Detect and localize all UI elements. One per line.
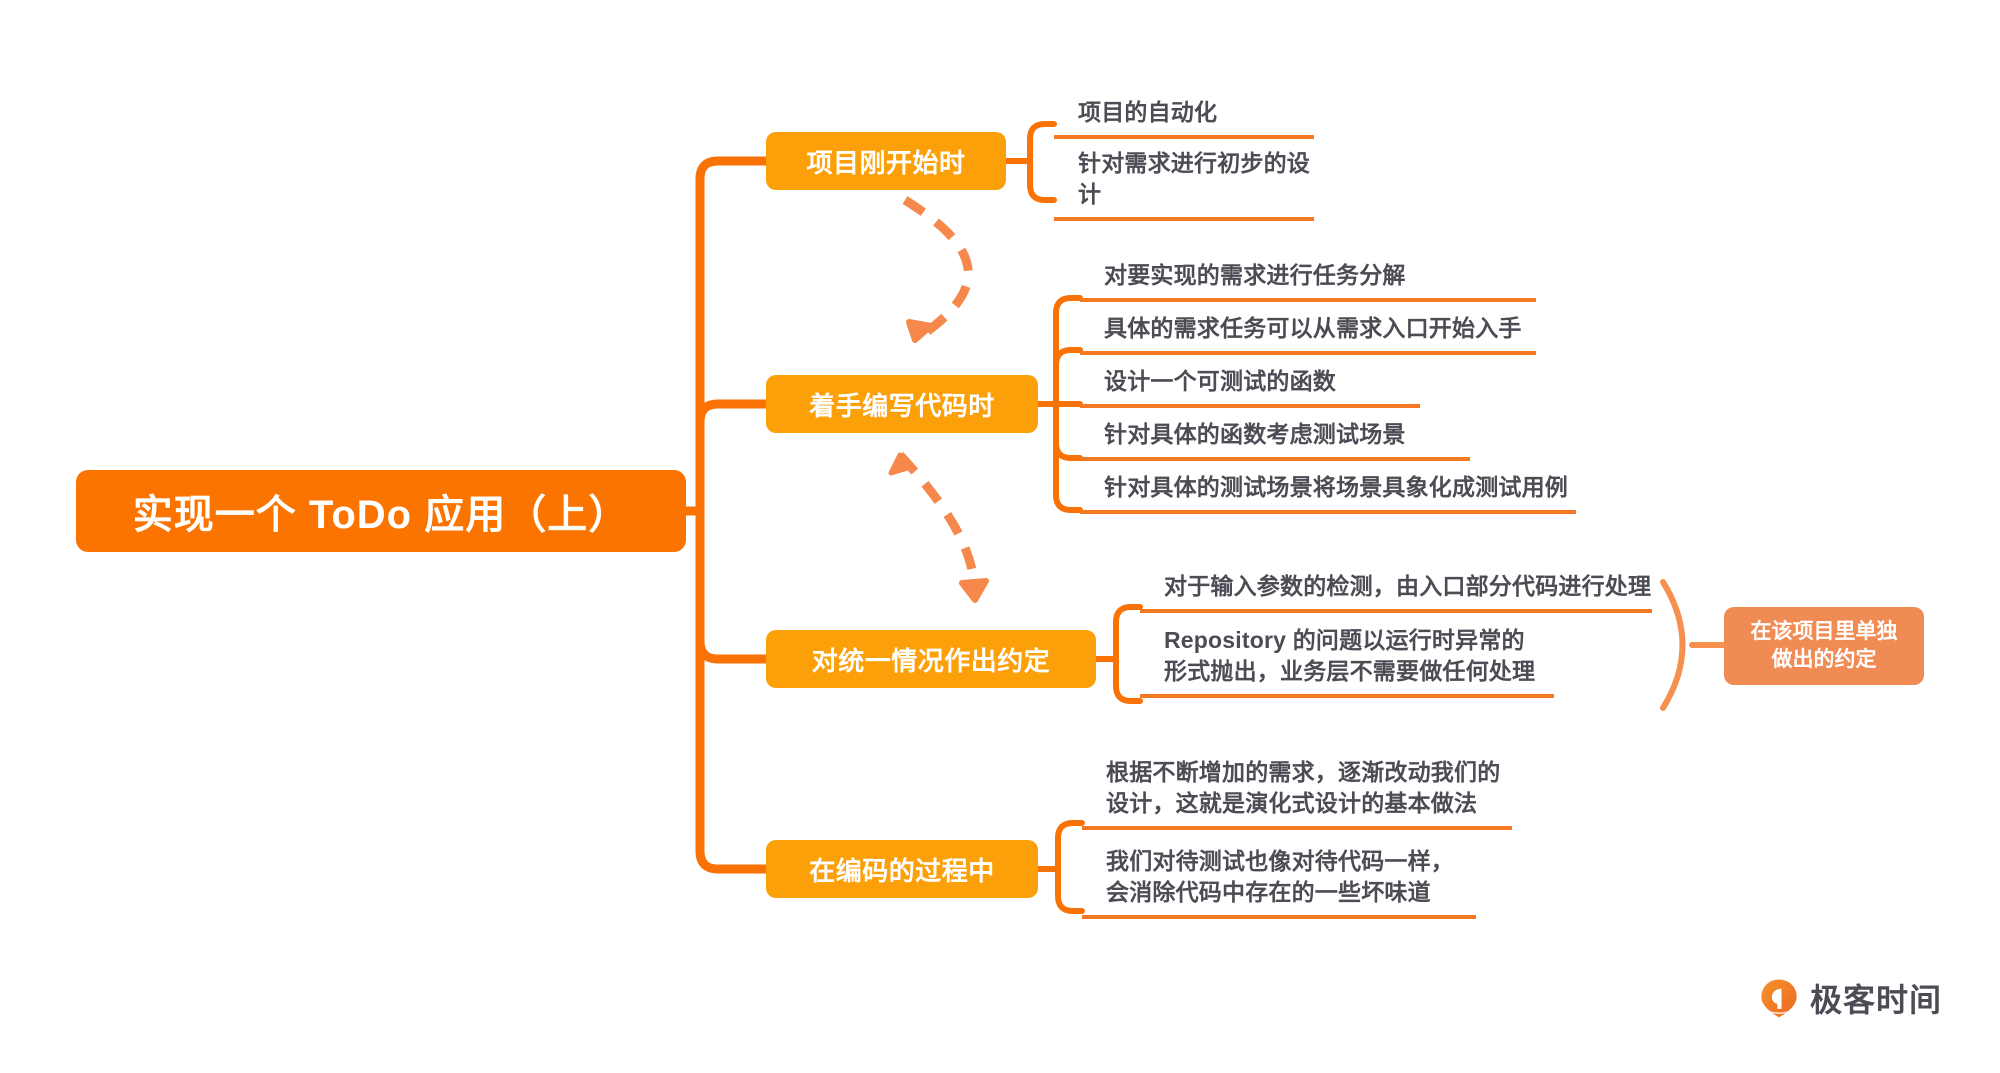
- branch-node-3-label: 在编码的过程中: [809, 851, 995, 888]
- connector-branch-1-leaf-3: [1056, 404, 1080, 458]
- branch-node-2[interactable]: 对统一情况作出约定: [766, 630, 1096, 688]
- branch-node-2-label: 对统一情况作出约定: [812, 641, 1051, 678]
- connector-branch-2-leaf-0: [1116, 607, 1140, 659]
- root-node[interactable]: 实现一个 ToDo 应用（上）: [76, 470, 686, 552]
- dashed-arrow-1-head: [909, 322, 931, 340]
- branch-node-0-label: 项目刚开始时: [806, 143, 965, 180]
- leaf-text: 具体的需求任务可以从需求入口开始入手: [1104, 313, 1522, 344]
- leaf-text: 项目的自动化: [1078, 97, 1217, 128]
- connector-branch-2-leaf-1: [1116, 659, 1140, 701]
- connector-branch-1-leaf-1: [1056, 350, 1080, 404]
- branch-node-1[interactable]: 着手编写代码时: [766, 375, 1038, 433]
- connector-branch-3-leaf-0: [1058, 823, 1082, 869]
- leaf-text: 根据不断增加的需求，逐渐改动我们的 设计，这就是演化式设计的基本做法: [1106, 757, 1500, 819]
- root-node-label: 实现一个 ToDo 应用（上）: [133, 482, 629, 540]
- summary-node[interactable]: 在该项目里单独 做出的约定: [1724, 607, 1924, 685]
- branch-node-3[interactable]: 在编码的过程中: [766, 840, 1038, 898]
- leaf-item[interactable]: Repository 的问题以运行时异常的 形式抛出，业务层不需要做任何处理: [1140, 624, 1554, 698]
- branch-node-0[interactable]: 项目刚开始时: [766, 132, 1006, 190]
- leaf-text: 针对需求进行初步的设计: [1078, 148, 1314, 210]
- leaf-item[interactable]: 对于输入参数的检测，由入口部分代码进行处理: [1140, 570, 1652, 613]
- leaf-text: 针对具体的函数考虑测试场景: [1104, 419, 1406, 450]
- brand-logo-text: 极客时间: [1810, 975, 1942, 1021]
- leaf-text: 针对具体的测试场景将场景具象化成测试用例: [1104, 472, 1568, 503]
- leaf-item[interactable]: 我们对待测试也像对待代码一样， 会消除代码中存在的一些坏味道: [1082, 845, 1476, 919]
- branch-node-1-label: 着手编写代码时: [809, 386, 995, 423]
- connector-branch-0-leaf-1: [1030, 161, 1054, 200]
- connector-root-to-branch-3: [700, 511, 766, 869]
- leaf-item[interactable]: 项目的自动化: [1054, 96, 1314, 139]
- leaf-item[interactable]: 对要实现的需求进行任务分解: [1080, 259, 1536, 302]
- dashed-arrow-2-head-down: [962, 581, 986, 600]
- summary-bracket: [1663, 582, 1683, 708]
- connector-branch-3-leaf-1: [1058, 869, 1082, 911]
- leaf-text: 我们对待测试也像对待代码一样， 会消除代码中存在的一些坏味道: [1106, 846, 1454, 908]
- connector-root-to-branch-1: [700, 404, 766, 511]
- leaf-item[interactable]: 设计一个可测试的函数: [1080, 365, 1420, 408]
- leaf-item[interactable]: 具体的需求任务可以从需求入口开始入手: [1080, 312, 1536, 355]
- mindmap-canvas: 实现一个 ToDo 应用（上） 项目刚开始时 项目的自动化 针对需求进行初步的设…: [0, 0, 2000, 1073]
- leaf-item[interactable]: 针对需求进行初步的设计: [1054, 147, 1314, 221]
- leaf-text: 设计一个可测试的函数: [1104, 366, 1336, 397]
- connector-root-to-branch-2: [700, 511, 766, 659]
- leaf-item[interactable]: 针对具体的函数考虑测试场景: [1080, 418, 1470, 461]
- geektime-pin-icon: [1758, 977, 1800, 1019]
- dashed-arrow-1: [905, 200, 968, 340]
- dashed-arrow-2: [900, 455, 975, 598]
- leaf-text: 对于输入参数的检测，由入口部分代码进行处理: [1164, 571, 1651, 602]
- summary-node-label: 在该项目里单独 做出的约定: [1751, 618, 1898, 674]
- brand-logo: 极客时间: [1758, 975, 1942, 1021]
- connector-branch-0-leaf-0: [1030, 124, 1054, 161]
- leaf-item[interactable]: 针对具体的测试场景将场景具象化成测试用例: [1080, 471, 1576, 514]
- connector-branch-1-leaf-4: [1056, 404, 1080, 510]
- leaf-text: Repository 的问题以运行时异常的 形式抛出，业务层不需要做任何处理: [1164, 625, 1535, 687]
- leaf-item[interactable]: 根据不断增加的需求，逐渐改动我们的 设计，这就是演化式设计的基本做法: [1082, 756, 1512, 830]
- dashed-arrow-2-head-up: [891, 455, 911, 473]
- connector-root-to-branch-0: [700, 161, 766, 511]
- connector-branch-1-leaf-0: [1056, 298, 1080, 404]
- leaf-text: 对要实现的需求进行任务分解: [1104, 260, 1406, 291]
